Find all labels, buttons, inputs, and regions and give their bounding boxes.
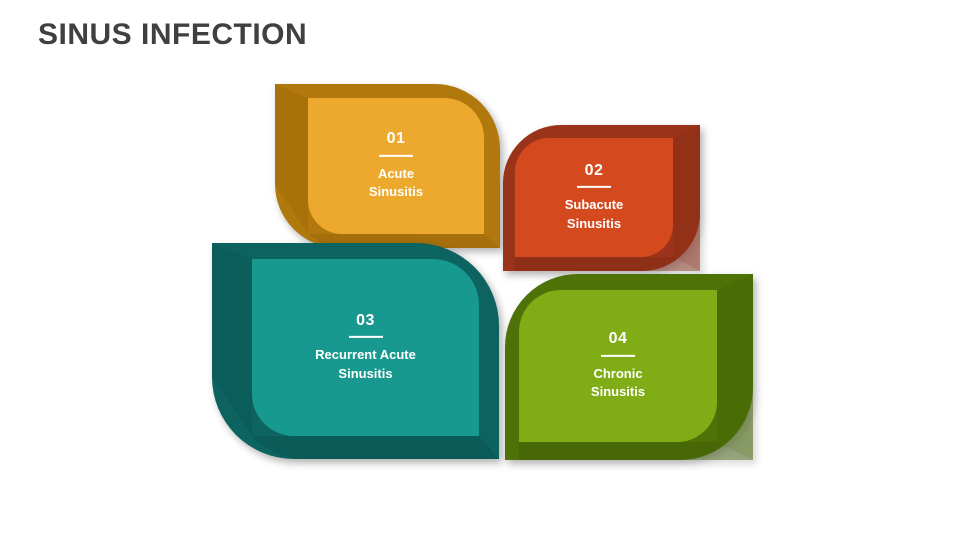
item-03-label: Recurrent Acute Sinusitis	[262, 346, 469, 384]
item-03-divider	[349, 336, 383, 338]
item-01-divider	[379, 154, 413, 156]
item-03-face: 03 Recurrent Acute Sinusitis	[252, 259, 479, 436]
diagram-item-02[interactable]: 02 Subacute Sinusitis	[503, 125, 700, 271]
diagram-item-01[interactable]: 01 Acute Sinusitis	[275, 84, 500, 248]
item-04-label: Chronic Sinusitis	[529, 364, 707, 402]
item-01-face: 01 Acute Sinusitis	[308, 98, 484, 234]
item-01-number: 01	[318, 130, 474, 148]
item-04-content: 04 Chronic Sinusitis	[519, 330, 717, 402]
item-03-content: 03 Recurrent Acute Sinusitis	[252, 311, 479, 383]
item-04-divider	[601, 354, 635, 356]
pinwheel-diagram: 01 Acute Sinusitis 02 Subacute Sinusitis	[0, 0, 960, 540]
item-02-content: 02 Subacute Sinusitis	[515, 161, 673, 233]
item-02-face: 02 Subacute Sinusitis	[515, 138, 673, 257]
item-01-content: 01 Acute Sinusitis	[308, 130, 484, 202]
item-04-number: 04	[529, 330, 707, 348]
item-04-face: 04 Chronic Sinusitis	[519, 290, 717, 442]
item-03-number: 03	[262, 311, 469, 329]
diagram-item-03[interactable]: 03 Recurrent Acute Sinusitis	[212, 243, 499, 459]
item-02-number: 02	[525, 161, 663, 179]
item-02-divider	[577, 186, 611, 188]
diagram-item-04[interactable]: 04 Chronic Sinusitis	[505, 274, 753, 460]
item-01-label: Acute Sinusitis	[318, 164, 474, 202]
item-02-label: Subacute Sinusitis	[525, 196, 663, 234]
